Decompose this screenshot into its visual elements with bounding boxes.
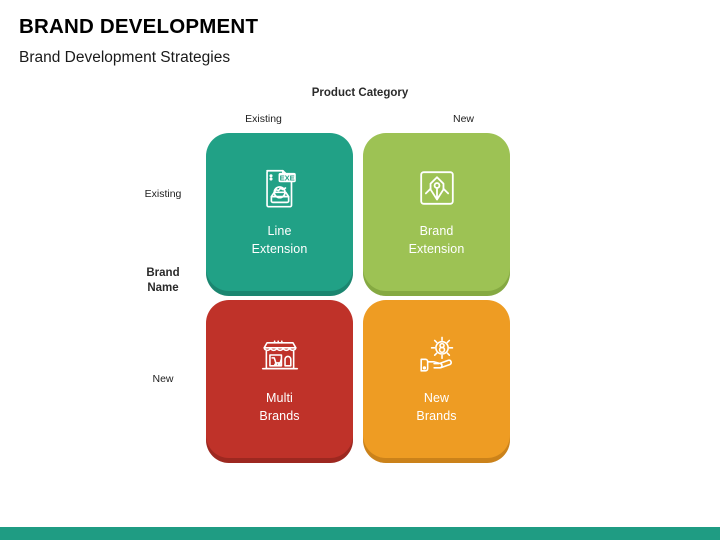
matrix-cell-multi-brands[interactable]: Multi Brands: [206, 300, 353, 458]
matrix-cell-brand-extension[interactable]: Brand Extension: [363, 133, 510, 291]
matrix-cell-label: Line Extension: [252, 223, 308, 259]
page-subtitle: Brand Development Strategies: [19, 49, 230, 67]
row-label-existing: Existing: [126, 188, 200, 200]
storefront-icon: [257, 332, 303, 378]
row-label-new: New: [126, 373, 200, 385]
matrix-cell-label: Brand Extension: [409, 223, 465, 259]
matrix-cell-label: Multi Brands: [259, 390, 299, 426]
matrix-cell-new-brands[interactable]: New Brands: [363, 300, 510, 458]
matrix-cell-label: New Brands: [416, 390, 456, 426]
slide-canvas: BRAND DEVELOPMENT Brand Development Stra…: [0, 0, 720, 540]
matrix-cell-line-extension[interactable]: EXE Line Extension: [206, 133, 353, 291]
exe-document-icon: EXE: [257, 165, 303, 211]
hand-idea-bulb-icon: [414, 332, 460, 378]
axis-top-title: Product Category: [0, 87, 720, 99]
page-title: BRAND DEVELOPMENT: [19, 15, 258, 39]
pen-nib-square-icon: [414, 165, 460, 211]
axis-left-title: Brand Name: [126, 266, 200, 295]
svg-text:EXE: EXE: [279, 174, 294, 183]
column-label-new: New: [406, 113, 521, 125]
column-label-existing: Existing: [206, 113, 321, 125]
footer-accent-bar: [0, 527, 720, 540]
